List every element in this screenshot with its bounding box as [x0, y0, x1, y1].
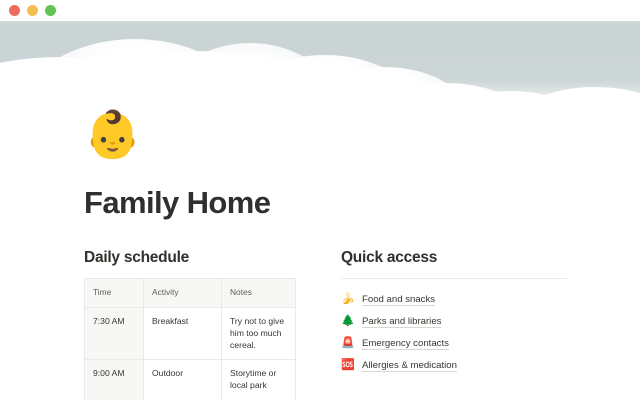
- table-header-row: Time Activity Notes: [85, 278, 296, 307]
- quick-access-link-parks-and-libraries[interactable]: Parks and libraries: [362, 316, 441, 327]
- page-content: 👶 Family Home Daily schedule Time Activi…: [0, 139, 640, 400]
- quick-access-column: Quick access 🍌 Food and snacks 🌲 Parks a…: [341, 249, 567, 400]
- daily-schedule-column: Daily schedule Time Activity Notes 7:30 …: [84, 249, 295, 400]
- table-header: Time Activity Notes: [85, 278, 296, 307]
- quick-access-heading: Quick access: [341, 249, 567, 268]
- table-body: 7:30 AM Breakfast Try not to give him to…: [85, 307, 296, 400]
- column-header-activity[interactable]: Activity: [144, 278, 222, 307]
- baby-emoji-icon[interactable]: 👶: [84, 111, 141, 157]
- quick-access-divider: [341, 278, 567, 279]
- cell-time[interactable]: 9:00 AM: [85, 360, 144, 400]
- daily-schedule-table[interactable]: Time Activity Notes 7:30 AM Breakfast Tr…: [84, 278, 296, 400]
- daily-schedule-heading: Daily schedule: [84, 249, 295, 268]
- cell-activity[interactable]: Outdoor: [144, 360, 222, 400]
- column-header-notes[interactable]: Notes: [222, 278, 296, 307]
- quick-access-link-food-and-snacks[interactable]: Food and snacks: [362, 294, 435, 305]
- sky-gradient: [0, 21, 640, 27]
- list-item[interactable]: 🚨 Emergency contacts: [341, 333, 567, 354]
- quick-access-link-allergies-and-medication[interactable]: Allergies & medication: [362, 360, 457, 371]
- zoom-button[interactable]: [45, 5, 56, 16]
- banana-emoji-icon: 🍌: [341, 294, 355, 305]
- list-item[interactable]: 🆘 Allergies & medication: [341, 355, 567, 376]
- close-button[interactable]: [9, 5, 20, 16]
- minimize-button[interactable]: [27, 5, 38, 16]
- cell-notes[interactable]: Storytime or local park: [222, 360, 296, 400]
- columns-container: Daily schedule Time Activity Notes 7:30 …: [84, 249, 564, 400]
- evergreen-tree-emoji-icon: 🌲: [341, 316, 355, 327]
- sos-button-emoji-icon: 🆘: [341, 360, 355, 371]
- cell-notes[interactable]: Try not to give him too much cereal.: [222, 307, 296, 360]
- traffic-light-group: [9, 5, 56, 16]
- emergency-light-emoji-icon: 🚨: [341, 338, 355, 349]
- table-row[interactable]: 9:00 AM Outdoor Storytime or local park: [85, 360, 296, 400]
- cell-activity[interactable]: Breakfast: [144, 307, 222, 360]
- list-item[interactable]: 🍌 Food and snacks: [341, 289, 567, 310]
- page-title[interactable]: Family Home: [84, 186, 270, 221]
- window-titlebar: [0, 0, 640, 21]
- quick-access-link-emergency-contacts[interactable]: Emergency contacts: [362, 338, 449, 349]
- app-window: 👶 Family Home Daily schedule Time Activi…: [0, 0, 640, 400]
- list-item[interactable]: 🌲 Parks and libraries: [341, 311, 567, 332]
- cell-time[interactable]: 7:30 AM: [85, 307, 144, 360]
- column-header-time[interactable]: Time: [85, 278, 144, 307]
- table-row[interactable]: 7:30 AM Breakfast Try not to give him to…: [85, 307, 296, 360]
